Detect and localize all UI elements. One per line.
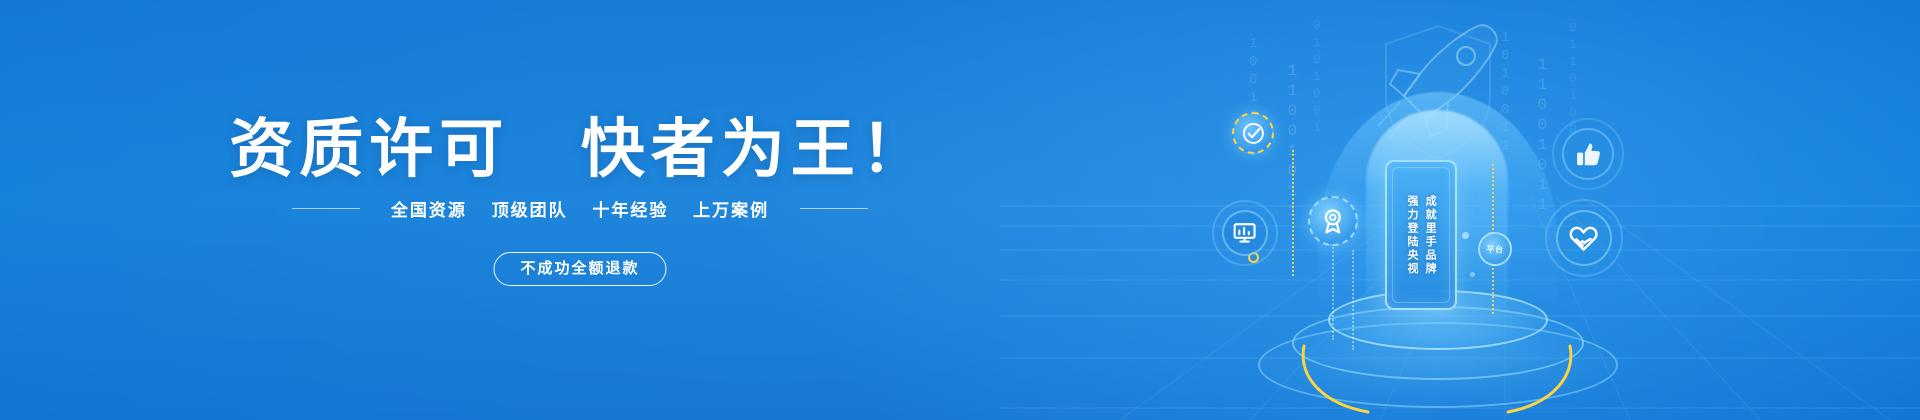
- phone-card: 强力登陆央视 成就里手品牌: [1385, 160, 1457, 310]
- subtitle-item: 全国资源: [391, 201, 467, 220]
- page-title: 资质许可 快者为王！: [0, 98, 1160, 190]
- divider-left: [292, 208, 360, 209]
- headline-part-1: 资质许可: [229, 113, 509, 185]
- binary-stream: 0101001: [1310, 18, 1323, 137]
- subtitle-item: 顶级团队: [492, 201, 568, 220]
- platform-badge[interactable]: 平台: [1478, 232, 1512, 266]
- headline-part-2: 快者为王！: [581, 113, 931, 185]
- phone-vertical-text-right: 成就里手品牌: [1424, 195, 1436, 276]
- handshake-heart-icon[interactable]: [1556, 210, 1612, 266]
- phone-vertical-text-left: 强力登陆央视: [1406, 195, 1418, 276]
- award-ribbon-icon[interactable]: [1308, 196, 1358, 246]
- check-circle-icon[interactable]: [1232, 112, 1274, 154]
- platform-badge-label: 平台: [1487, 244, 1504, 255]
- promotional-banner: 1001011 11001011 0101001 1010011 1100101…: [0, 0, 1920, 420]
- subtitle-row: 全国资源 顶级团队 十年经验 上万案例: [0, 196, 1160, 221]
- subtitle-text: 全国资源 顶级团队 十年经验 上万案例: [382, 196, 778, 221]
- thumbs-up-icon[interactable]: [1562, 128, 1614, 180]
- refund-guarantee-button[interactable]: 不成功全额退款: [493, 252, 666, 286]
- subtitle-item: 十年经验: [592, 201, 668, 220]
- banner-text-block: 资质许可 快者为王！ 全国资源 顶级团队 十年经验 上万案例 不成功全额退款: [0, 0, 1160, 420]
- divider-right: [800, 208, 868, 209]
- subtitle-item: 上万案例: [693, 201, 769, 220]
- podium-accent-arcs: [1258, 312, 1618, 420]
- monitor-chart-icon[interactable]: [1222, 210, 1268, 256]
